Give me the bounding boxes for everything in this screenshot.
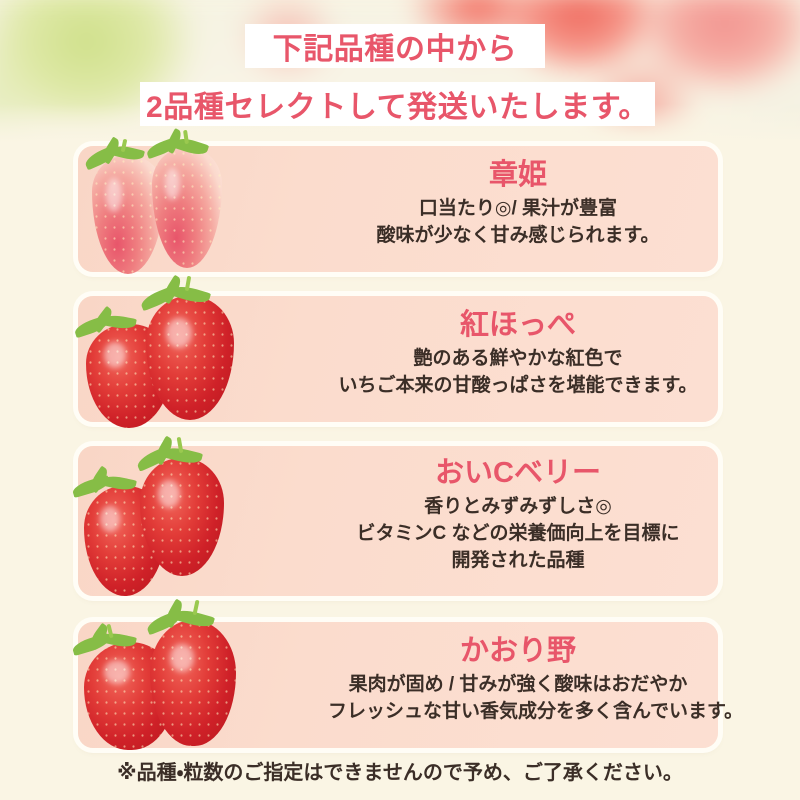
footer-note: ※品種・粒数のご指定はできませんので予め、ご了承ください。 xyxy=(0,756,800,785)
variety-image-benihoppe xyxy=(78,286,328,432)
variety-image-kaorino xyxy=(78,612,328,760)
variety-description-line: いちご本来の甘酸っぱさを堪能できます。 xyxy=(328,373,708,400)
variety-description-line: ビタミンC などの栄養価向上を目標に xyxy=(328,521,708,548)
variety-image-oic-berry xyxy=(78,440,328,605)
variety-text-block: おいCベリー 香りとみずみずしさ◎ ビタミンC などの栄養価向上を目標に 開発さ… xyxy=(328,458,708,575)
variety-text-block: かおり野 果肉が固め / 甘みが強く酸味はおだやか フレッシュな甘い香気成分を多… xyxy=(328,636,708,726)
variety-description-line: 果肉が固め / 甘みが強く酸味はおだやか xyxy=(328,672,708,699)
variety-name: 章姫 xyxy=(328,160,708,192)
variety-image-akihime xyxy=(78,138,328,280)
variety-description-line: 酸味が少なく甘み感じられます。 xyxy=(328,223,708,250)
variety-description-line: フレッシュな甘い香気成分を多く含んでいます。 xyxy=(328,699,708,726)
variety-name: 紅ほっぺ xyxy=(328,310,708,342)
variety-name: おいCベリー xyxy=(328,458,708,490)
variety-name: かおり野 xyxy=(328,636,708,668)
variety-text-block: 紅ほっぺ 艶のある鮮やかな紅色で いちご本来の甘酸っぱさを堪能できます。 xyxy=(328,310,708,400)
headline-line-1: 下記品種の中から xyxy=(245,24,545,68)
hero-banner: 下記品種の中から 2品種セレクトして発送いたします。 xyxy=(0,0,800,150)
variety-description-line: 艶のある鮮やかな紅色で xyxy=(328,346,708,373)
variety-text-block: 章姫 口当たり◎/ 果汁が豊富 酸味が少なく甘み感じられます。 xyxy=(328,160,708,250)
variety-description-line: 香りとみずみずしさ◎ xyxy=(328,494,708,521)
headline-line-2: 2品種セレクトして発送いたします。 xyxy=(140,82,655,126)
variety-description-line: 開発された品種 xyxy=(328,548,708,575)
variety-description-line: 口当たり◎/ 果汁が豊富 xyxy=(328,196,708,223)
